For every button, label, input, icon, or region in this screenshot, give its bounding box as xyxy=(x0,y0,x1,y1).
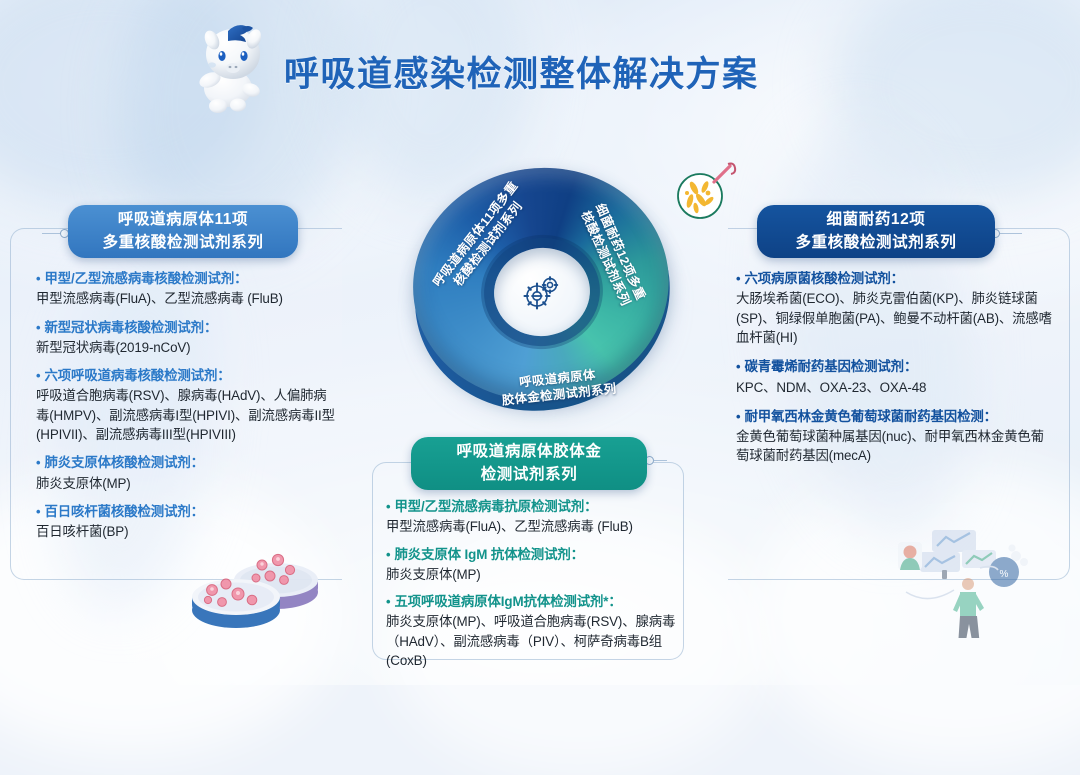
list-item-body: 肺炎支原体(MP) xyxy=(386,565,676,584)
list-item-heading: • 新型冠状病毒核酸检测试剂： xyxy=(36,319,336,337)
people-data-illustration: % xyxy=(884,512,1036,638)
bullet-icon: • xyxy=(36,270,40,288)
list-item-body: 金黄色葡萄球菌种属基因(nuc)、耐甲氧西林金黄色葡萄球菌耐药基因(mecA) xyxy=(736,427,1056,466)
list-item-heading: • 甲型/乙型流感病毒核酸检测试剂： xyxy=(36,270,336,288)
list-item-heading-text: 耐甲氧西林金黄色葡萄球菌耐药基因检测： xyxy=(744,408,997,426)
list-item: • 碳青霉烯耐药基因检测试剂： KPC、NDM、OXA-23、OXA-48 xyxy=(736,358,1056,397)
list-item-heading: • 肺炎支原体核酸检测试剂： xyxy=(36,454,336,472)
list-item: • 百日咳杆菌核酸检测试剂： 百日咳杆菌(BP) xyxy=(36,503,336,542)
panel-list-bottom: • 甲型/乙型流感病毒抗原检测试剂： 甲型流感病毒(FluA)、乙型流感病毒 (… xyxy=(386,498,676,679)
white-pony-mascot-icon xyxy=(188,14,284,118)
list-item-heading-text: 肺炎支原体 IgM 抗体检测试剂： xyxy=(394,546,583,564)
list-item-heading-text: 甲型/乙型流感病毒抗原检测试剂： xyxy=(394,498,597,516)
page-title: 呼吸道感染检测整体解决方案 xyxy=(284,46,759,97)
list-item-body: 大肠埃希菌(ECO)、肺炎克雷伯菌(KP)、肺炎链球菌(SP)、铜绿假单胞菌(P… xyxy=(736,289,1056,347)
list-item-heading-text: 新型冠状病毒核酸检测试剂： xyxy=(44,319,217,337)
list-item-heading-text: 六项呼吸道病毒核酸检测试剂： xyxy=(44,367,230,385)
list-item-heading: • 耐甲氧西林金黄色葡萄球菌耐药基因检测： xyxy=(736,408,1056,426)
list-item-body: 甲型流感病毒(FluA)、乙型流感病毒 (FluB) xyxy=(36,289,336,308)
panel-header-bottom-line1: 呼吸道病原体胶体金 xyxy=(457,441,602,463)
list-item-heading: • 六项病原菌核酸检测试剂： xyxy=(736,270,1056,288)
list-item-body: 百日咳杆菌(BP) xyxy=(36,522,336,541)
center-puzzle-donut-diagram: 呼吸道病原体11项多重 核酸检测试剂系列 细菌耐药12项多重 核酸检测试剂系列 … xyxy=(391,141,694,444)
list-item: • 六项呼吸道病毒核酸检测试剂： 呼吸道合胞病毒(RSV)、腺病毒(HAdV)、… xyxy=(36,367,336,444)
bullet-icon: • xyxy=(36,454,40,472)
panel-header-bottom: 呼吸道病原体胶体金 检测试剂系列 xyxy=(411,437,647,490)
list-item: • 五项呼吸道病原体IgM抗体检测试剂*： 肺炎支原体(MP)、呼吸道合胞病毒(… xyxy=(386,593,676,670)
bullet-icon: • xyxy=(736,270,740,288)
panel-header-right: 细菌耐药12项 多重核酸检测试剂系列 xyxy=(757,205,995,258)
svg-text:%: % xyxy=(1000,569,1009,580)
list-item-body: 甲型流感病毒(FluA)、乙型流感病毒 (FluB) xyxy=(386,517,676,536)
bullet-icon: • xyxy=(36,367,40,385)
panel-header-right-line2: 多重核酸检测试剂系列 xyxy=(795,232,956,254)
list-item-heading: • 碳青霉烯耐药基因检测试剂： xyxy=(736,358,1056,376)
list-item: • 耐甲氧西林金黄色葡萄球菌耐药基因检测： 金黄色葡萄球菌种属基因(nuc)、耐… xyxy=(736,408,1056,466)
petri-dishes-illustration xyxy=(192,548,324,632)
list-item: • 肺炎支原体 IgM 抗体检测试剂： 肺炎支原体(MP) xyxy=(386,546,676,585)
bullet-icon: • xyxy=(736,408,740,426)
list-item-heading-text: 甲型/乙型流感病毒核酸检测试剂： xyxy=(44,270,247,288)
list-item: • 甲型/乙型流感病毒核酸检测试剂： 甲型流感病毒(FluA)、乙型流感病毒 (… xyxy=(36,270,336,309)
bullet-icon: • xyxy=(386,498,390,516)
panel-list-left: • 甲型/乙型流感病毒核酸检测试剂： 甲型流感病毒(FluA)、乙型流感病毒 (… xyxy=(36,270,336,552)
panel-header-left-line2: 多重核酸检测试剂系列 xyxy=(102,232,263,254)
list-item-heading-text: 肺炎支原体核酸检测试剂： xyxy=(44,454,204,472)
list-item-heading-text: 五项呼吸道病原体IgM抗体检测试剂*： xyxy=(394,593,621,611)
connector-right xyxy=(991,228,1021,240)
panel-list-right: • 六项病原菌核酸检测试剂： 大肠埃希菌(ECO)、肺炎克雷伯菌(KP)、肺炎链… xyxy=(736,270,1056,477)
bullet-icon: • xyxy=(386,593,390,611)
list-item-body: 新型冠状病毒(2019-nCoV) xyxy=(36,338,336,357)
list-item-heading-text: 百日咳杆菌核酸检测试剂： xyxy=(44,503,204,521)
bullet-icon: • xyxy=(736,358,740,376)
list-item-heading-text: 碳青霉烯耐药基因检测试剂： xyxy=(744,358,917,376)
bullet-icon: • xyxy=(36,319,40,337)
list-item-heading: • 六项呼吸道病毒核酸检测试剂： xyxy=(36,367,336,385)
list-item-body: 肺炎支原体(MP) xyxy=(36,474,336,493)
bullet-icon: • xyxy=(386,546,390,564)
panel-header-left-line1: 呼吸道病原体11项 xyxy=(118,209,248,231)
connector-bottom xyxy=(645,455,669,467)
list-item-heading: • 五项呼吸道病原体IgM抗体检测试剂*： xyxy=(386,593,676,611)
list-item-heading: • 肺炎支原体 IgM 抗体检测试剂： xyxy=(386,546,676,564)
list-item: • 甲型/乙型流感病毒抗原检测试剂： 甲型流感病毒(FluA)、乙型流感病毒 (… xyxy=(386,498,676,537)
gears-icon xyxy=(519,269,565,315)
panel-header-left: 呼吸道病原体11项 多重核酸检测试剂系列 xyxy=(68,205,298,258)
list-item-heading: • 甲型/乙型流感病毒抗原检测试剂： xyxy=(386,498,676,516)
panel-header-right-line1: 细菌耐药12项 xyxy=(827,209,926,231)
panel-header-bottom-line2: 检测试剂系列 xyxy=(481,464,578,486)
list-item-heading-text: 六项病原菌核酸检测试剂： xyxy=(744,270,904,288)
list-item-body: KPC、NDM、OXA-23、OXA-48 xyxy=(736,378,1056,397)
list-item: • 六项病原菌核酸检测试剂： 大肠埃希菌(ECO)、肺炎克雷伯菌(KP)、肺炎链… xyxy=(736,270,1056,347)
list-item: • 肺炎支原体核酸检测试剂： 肺炎支原体(MP) xyxy=(36,454,336,493)
list-item-heading: • 百日咳杆菌核酸检测试剂： xyxy=(36,503,336,521)
petri-dish-culture-icon xyxy=(672,156,742,226)
list-item: • 新型冠状病毒核酸检测试剂： 新型冠状病毒(2019-nCoV) xyxy=(36,319,336,358)
list-item-body: 肺炎支原体(MP)、呼吸道合胞病毒(RSV)、腺病毒（HAdV）、副流感病毒（P… xyxy=(386,612,676,670)
list-item-body: 呼吸道合胞病毒(RSV)、腺病毒(HAdV)、人偏肺病毒(HMPV)、副流感病毒… xyxy=(36,386,336,444)
page-header: 呼吸道感染检测整体解决方案 xyxy=(0,0,1080,128)
bullet-icon: • xyxy=(36,503,40,521)
